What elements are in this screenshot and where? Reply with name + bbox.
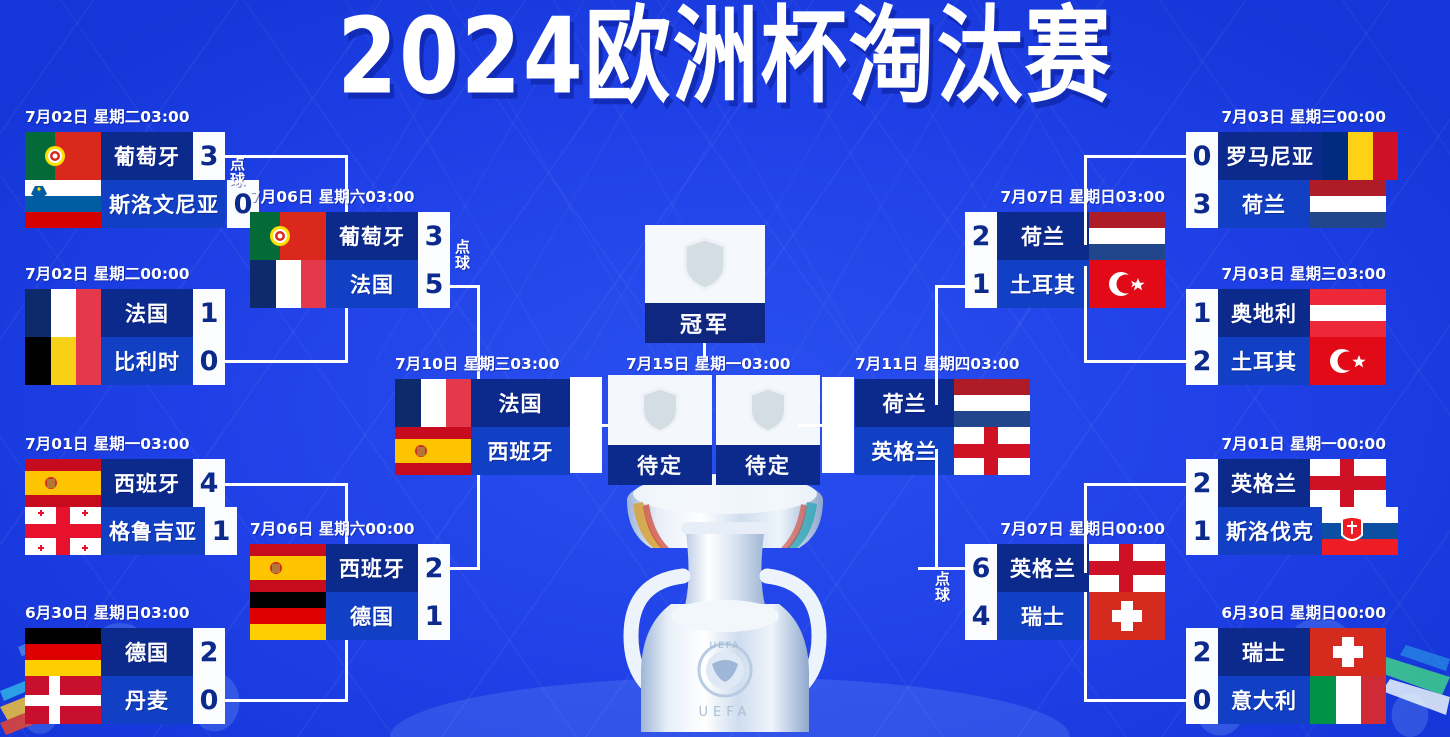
match-row-home: 法国 1 — [25, 289, 225, 337]
team-score-away: 1 — [205, 507, 237, 555]
match-date: 7月11日 星期四03:00 — [855, 352, 1030, 374]
connector-line — [1084, 155, 1087, 245]
flag-georgia — [25, 507, 101, 555]
match-row-away: 格鲁吉亚 1 — [25, 507, 225, 555]
team-score-home: 2 — [1186, 628, 1218, 676]
match-rows: 德国 2 丹麦 0 — [25, 628, 225, 724]
team-score-away: 1 — [418, 592, 450, 640]
final-crest-left — [608, 375, 712, 445]
team-name-home: 法国 — [471, 379, 570, 427]
final-team-left[interactable]: 待定 — [608, 375, 712, 485]
match-row-away: 1 斯洛伐克 — [1186, 507, 1386, 555]
team-name-home: 奥地利 — [1218, 289, 1310, 337]
team-score-away: 3 — [1186, 180, 1218, 228]
team-score-away: 0 — [193, 676, 225, 724]
final-crest-right — [716, 375, 820, 445]
match-card-r16-left-3[interactable]: 7月01日 星期一03:00 西班牙 4 格鲁吉亚 1 — [25, 432, 225, 555]
team-score-away: 2 — [1186, 337, 1218, 385]
match-date: 7月06日 星期六00:00 — [250, 517, 450, 539]
flag-portugal — [25, 132, 101, 180]
team-score-away: 1 — [965, 260, 997, 308]
match-rows: 西班牙 4 格鲁吉亚 1 — [25, 459, 225, 555]
connector-line — [1084, 155, 1188, 158]
team-name-home: 德国 — [101, 628, 193, 676]
flag-france — [395, 379, 471, 427]
team-name-away: 西班牙 — [471, 427, 570, 475]
match-row-home: 1 奥地利 — [1186, 289, 1386, 337]
team-score-away: 0 — [1186, 676, 1218, 724]
connector-line — [223, 483, 348, 486]
match-row-away: 0 意大利 — [1186, 676, 1386, 724]
flag-turkey — [1089, 260, 1165, 308]
team-name-home: 荷兰 — [855, 379, 954, 427]
flag-spain — [395, 427, 471, 475]
team-name-away: 德国 — [326, 592, 418, 640]
flag-spain — [25, 459, 101, 507]
match-date: 6月30日 星期日00:00 — [1186, 601, 1386, 623]
match-row-home: 西班牙 2 — [250, 544, 450, 592]
flag-france — [25, 289, 101, 337]
match-date: 7月02日 星期二03:00 — [25, 105, 225, 127]
connector-line — [448, 285, 480, 288]
match-rows: 1 奥地利 2 土耳其 — [1186, 289, 1386, 385]
team-name-home: 法国 — [101, 289, 193, 337]
match-date: 7月02日 星期二00:00 — [25, 262, 225, 284]
match-date: 7月10日 星期三03:00 — [395, 352, 570, 374]
match-rows: 6 英格兰 4 瑞士 — [965, 544, 1165, 640]
connector-line — [223, 360, 348, 363]
flag-switzerland — [1310, 628, 1386, 676]
shield-icon — [639, 385, 681, 435]
team-name-away: 格鲁吉亚 — [101, 507, 205, 555]
team-name-home: 罗马尼亚 — [1218, 132, 1322, 180]
match-card-r16-right-2[interactable]: 7月03日 星期三03:00 1 奥地利 2 土耳其 — [1186, 262, 1386, 385]
flag-spain — [250, 544, 326, 592]
match-date: 7月06日 星期六03:00 — [250, 185, 450, 207]
match-date: 7月03日 星期三03:00 — [1186, 262, 1386, 284]
team-name-away: 比利时 — [101, 337, 193, 385]
match-date: 7月01日 星期一03:00 — [25, 432, 225, 454]
flag-austria — [1310, 289, 1386, 337]
team-name-away: 丹麦 — [101, 676, 193, 724]
bracket-board: 7月02日 星期二03:00 葡萄牙 3 斯洛文尼亚 0 点球 7月02日 星期… — [0, 0, 1450, 737]
team-name-home: 荷兰 — [997, 212, 1089, 260]
match-rows: 葡萄牙 3 斯洛文尼亚 0 — [25, 132, 225, 228]
match-row-away: 2 土耳其 — [1186, 337, 1386, 385]
team-name-away: 土耳其 — [997, 260, 1089, 308]
connector-line — [1084, 699, 1188, 702]
flag-germany — [25, 628, 101, 676]
team-score-away: 5 — [418, 260, 450, 308]
match-row-home: 2 瑞士 — [1186, 628, 1386, 676]
match-card-qf-right-2[interactable]: 7月07日 星期日00:00 6 英格兰 4 瑞士 — [965, 517, 1165, 640]
final-team-right[interactable]: 待定 — [716, 375, 820, 485]
match-card-r16-left-1[interactable]: 7月02日 星期二03:00 葡萄牙 3 斯洛文尼亚 0 — [25, 105, 225, 228]
match-date: 7月07日 星期日00:00 — [965, 517, 1165, 539]
match-row-away: 丹麦 0 — [25, 676, 225, 724]
connector-line — [1084, 483, 1087, 573]
team-name-away: 斯洛文尼亚 — [101, 180, 227, 228]
match-date: 6月30日 星期日03:00 — [25, 601, 225, 623]
connector-line — [448, 567, 480, 570]
flag-switzerland — [1089, 592, 1165, 640]
penalty-label-qf-right-2: 点球 — [935, 572, 950, 604]
match-rows: 葡萄牙 3 法国 5 — [250, 212, 450, 308]
match-row-home: 2 英格兰 — [1186, 459, 1386, 507]
champion-card: 冠军 — [645, 225, 765, 343]
team-score-home: 6 — [965, 544, 997, 592]
connector-line — [223, 155, 348, 158]
final-label-left: 待定 — [608, 445, 712, 485]
champion-crest — [645, 225, 765, 303]
match-row-away: 英格兰 — [855, 427, 1030, 475]
flag-england — [1089, 544, 1165, 592]
team-name-away: 瑞士 — [997, 592, 1089, 640]
team-score-home: 0 — [1186, 132, 1218, 180]
flag-germany — [250, 592, 326, 640]
match-row-away: 法国 5 — [250, 260, 450, 308]
team-name-home: 葡萄牙 — [326, 212, 418, 260]
match-row-away: 比利时 0 — [25, 337, 225, 385]
match-rows: 2 荷兰 1 土耳其 — [965, 212, 1165, 308]
match-card-qf-right-1[interactable]: 7月07日 星期日03:00 2 荷兰 1 土耳其 — [965, 185, 1165, 308]
team-name-away: 土耳其 — [1218, 337, 1310, 385]
match-row-away: 4 瑞士 — [965, 592, 1165, 640]
match-card-qf-left-1[interactable]: 7月06日 星期六03:00 葡萄牙 3 法国 5 — [250, 185, 450, 308]
team-score-away: 1 — [1186, 507, 1218, 555]
shield-icon — [681, 235, 729, 293]
team-name-home: 英格兰 — [997, 544, 1089, 592]
match-row-home: 0 罗马尼亚 — [1186, 132, 1386, 180]
match-card-qf-left-2[interactable]: 7月06日 星期六00:00 西班牙 2 德国 1 — [250, 517, 450, 640]
team-name-home: 葡萄牙 — [101, 132, 193, 180]
match-rows: 2 英格兰 1 斯洛伐克 — [1186, 459, 1386, 555]
team-name-home: 瑞士 — [1218, 628, 1310, 676]
match-row-home: 葡萄牙 3 — [25, 132, 225, 180]
connector-line — [1084, 483, 1188, 486]
connector-line — [1084, 360, 1188, 363]
team-score-home: 2 — [193, 628, 225, 676]
match-date: 7月01日 星期一00:00 — [1186, 432, 1386, 454]
match-row-away: 德国 1 — [250, 592, 450, 640]
connector-line — [1084, 266, 1087, 362]
match-row-home: 2 荷兰 — [965, 212, 1165, 260]
penalty-label-r16-left-1: 点球 — [230, 157, 245, 189]
connector-line — [798, 424, 824, 427]
match-date: 7月07日 星期日03:00 — [965, 185, 1165, 207]
team-name-home: 西班牙 — [326, 544, 418, 592]
team-score-home: 2 — [1186, 459, 1218, 507]
champion-label: 冠军 — [645, 303, 765, 343]
team-score-home: 2 — [965, 212, 997, 260]
match-card-semifinal-right[interactable]: 7月11日 星期四03:00 荷兰 英格兰 — [855, 352, 1030, 475]
flag-italy — [1310, 676, 1386, 724]
flag-turkey — [1310, 337, 1386, 385]
match-row-home: 德国 2 — [25, 628, 225, 676]
flag-netherlands — [1089, 212, 1165, 260]
match-card-semifinal-left[interactable]: 7月10日 星期三03:00 法国 西班牙 — [395, 352, 570, 475]
match-rows: 法国 西班牙 — [395, 379, 570, 475]
flag-england — [1310, 459, 1386, 507]
match-row-away: 1 土耳其 — [965, 260, 1165, 308]
semifinal-left-score-placeholder — [570, 377, 602, 473]
flag-portugal — [250, 212, 326, 260]
match-rows: 2 瑞士 0 意大利 — [1186, 628, 1386, 724]
match-rows: 荷兰 英格兰 — [855, 379, 1030, 475]
team-score-home: 3 — [418, 212, 450, 260]
team-score-home: 1 — [193, 289, 225, 337]
flag-england — [954, 427, 1030, 475]
match-row-home: 西班牙 4 — [25, 459, 225, 507]
team-name-away: 意大利 — [1218, 676, 1310, 724]
match-card-r16-right-3[interactable]: 7月01日 星期一00:00 2 英格兰 1 斯洛伐克 — [1186, 432, 1386, 555]
flag-slovakia — [1322, 507, 1398, 555]
connector-line — [935, 285, 967, 288]
team-name-away: 法国 — [326, 260, 418, 308]
match-rows: 西班牙 2 德国 1 — [250, 544, 450, 640]
team-score-home: 1 — [1186, 289, 1218, 337]
team-score-home: 4 — [193, 459, 225, 507]
team-name-away: 荷兰 — [1218, 180, 1310, 228]
team-score-home: 2 — [418, 544, 450, 592]
match-rows: 0 罗马尼亚 3 荷兰 — [1186, 132, 1386, 228]
flag-belgium — [25, 337, 101, 385]
team-score-away: 4 — [965, 592, 997, 640]
team-name-away: 斯洛伐克 — [1218, 507, 1322, 555]
match-row-away: 斯洛文尼亚 0 — [25, 180, 225, 228]
match-row-home: 葡萄牙 3 — [250, 212, 450, 260]
team-name-home: 英格兰 — [1218, 459, 1310, 507]
final-label-right: 待定 — [716, 445, 820, 485]
flag-netherlands — [954, 379, 1030, 427]
flag-denmark — [25, 676, 101, 724]
flag-romania — [1322, 132, 1398, 180]
match-row-away: 3 荷兰 — [1186, 180, 1386, 228]
match-card-r16-right-1[interactable]: 7月03日 星期三00:00 0 罗马尼亚 3 荷兰 — [1186, 105, 1386, 228]
match-rows: 法国 1 比利时 0 — [25, 289, 225, 385]
final-match-date: 7月15日 星期一03:00 — [626, 352, 784, 374]
semifinal-right-score-placeholder — [822, 377, 854, 473]
team-name-home: 西班牙 — [101, 459, 193, 507]
flag-slovenia — [25, 180, 101, 228]
penalty-label-qf-left-1: 点球 — [455, 240, 470, 272]
match-row-home: 荷兰 — [855, 379, 1030, 427]
shield-icon — [747, 385, 789, 435]
match-date: 7月03日 星期三00:00 — [1186, 105, 1386, 127]
match-card-r16-left-4[interactable]: 6月30日 星期日03:00 德国 2 丹麦 0 — [25, 601, 225, 724]
team-name-away: 英格兰 — [855, 427, 954, 475]
connector-line — [1084, 592, 1087, 701]
match-row-away: 西班牙 — [395, 427, 570, 475]
match-row-home: 法国 — [395, 379, 570, 427]
connector-line — [918, 567, 967, 570]
connector-line — [935, 449, 938, 569]
match-row-home: 6 英格兰 — [965, 544, 1165, 592]
match-card-r16-left-2[interactable]: 7月02日 星期二00:00 法国 1 比利时 0 — [25, 262, 225, 385]
connector-line — [223, 699, 348, 702]
team-score-home: 3 — [193, 132, 225, 180]
flag-netherlands — [1310, 180, 1386, 228]
team-score-away: 0 — [193, 337, 225, 385]
connector-line — [935, 285, 938, 405]
match-card-r16-right-4[interactable]: 6月30日 星期日00:00 2 瑞士 0 意大利 — [1186, 601, 1386, 724]
flag-france — [250, 260, 326, 308]
